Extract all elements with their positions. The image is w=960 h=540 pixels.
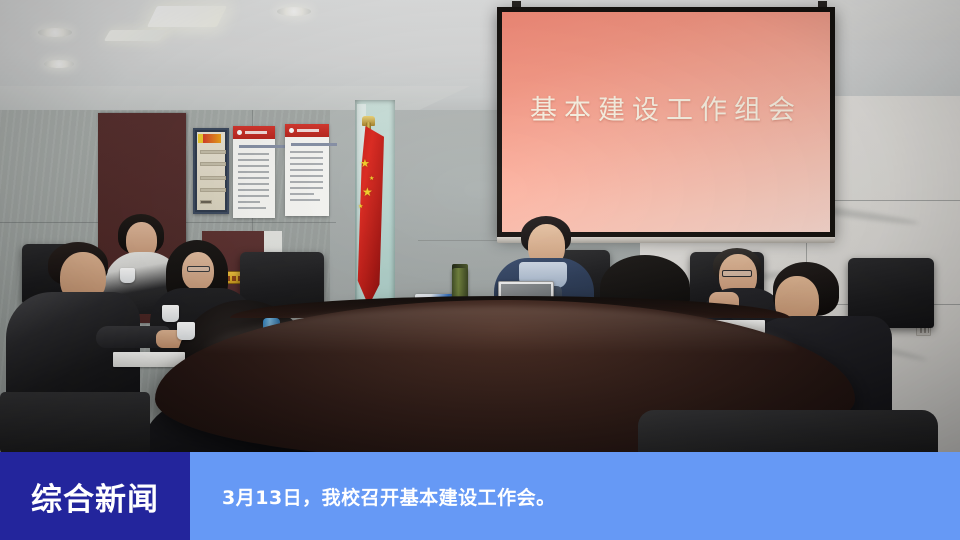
downlight-icon xyxy=(277,7,311,16)
conference-chair[interactable] xyxy=(0,392,150,452)
eyeglasses-icon xyxy=(187,266,210,272)
projection-screen: 基本建设工作组会 xyxy=(497,7,835,237)
caption-category-label: 综合新闻 xyxy=(0,452,190,540)
caption-text: 3月13日，我校召开基本建设工作会。 xyxy=(222,483,556,510)
linear-ceiling-light-2-icon xyxy=(104,30,166,41)
projection-screen-surface: 基本建设工作组会 xyxy=(502,12,830,232)
downlight-icon xyxy=(38,28,72,37)
caption-bar: 综合新闻 3月13日，我校召开基本建设工作会。 xyxy=(0,452,960,540)
paper-cup xyxy=(120,268,135,283)
paper-cup xyxy=(177,322,195,340)
conference-chair[interactable] xyxy=(638,410,938,452)
downlight-icon xyxy=(44,60,74,68)
linear-ceiling-light-icon xyxy=(147,6,227,27)
wall-poster-left xyxy=(233,126,275,218)
wall-poster-right xyxy=(285,124,329,216)
flag-star-icon: ★ xyxy=(369,175,374,184)
eyeglasses-icon xyxy=(722,270,752,277)
paper-cup xyxy=(162,305,179,322)
caption-body: 3月13日，我校召开基本建设工作会。 xyxy=(190,452,960,540)
flag-star-icon: ★ xyxy=(358,203,363,212)
caption-category-text: 综合新闻 xyxy=(31,474,159,519)
screenshot-root: ★ ★ ★ ★ xyxy=(0,0,960,540)
projection-screen-title: 基本建设工作组会 xyxy=(502,88,830,127)
notebook xyxy=(113,352,185,367)
news-photo: ★ ★ ★ ★ xyxy=(0,0,960,452)
flag-star-icon: ★ xyxy=(362,188,373,197)
wall-poster-framed-notice xyxy=(193,128,229,214)
flag-star-icon: ★ xyxy=(360,160,370,169)
